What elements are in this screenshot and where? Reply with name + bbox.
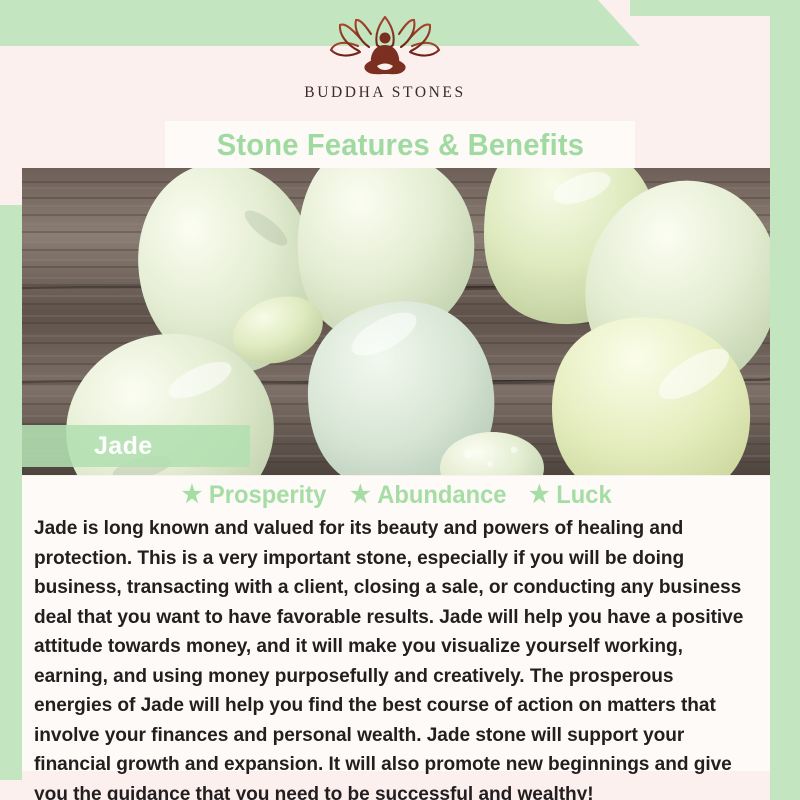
stone-description: Jade is long known and valued for its be… xyxy=(34,514,749,800)
brand-name: BUDDHA STONES xyxy=(0,84,770,102)
star-icon: ★ xyxy=(350,483,370,507)
content-area: ★ Prosperity ★ Abundance ★ Luck Jade is … xyxy=(22,476,770,771)
brand-logo: BUDDHA STONES xyxy=(0,14,770,102)
keyword-label: Luck xyxy=(556,481,611,510)
lotus-meditation-icon xyxy=(325,14,445,80)
page-title: Stone Features & Benefits xyxy=(216,127,583,163)
decorative-left-band xyxy=(0,205,22,780)
keyword-label: Abundance xyxy=(378,481,507,510)
keyword-item-prosperity: ★ Prosperity xyxy=(182,481,327,510)
star-icon: ★ xyxy=(182,483,202,507)
decorative-right-band xyxy=(770,0,800,800)
stone-name-strip: Jade xyxy=(22,425,250,467)
title-banner: Stone Features & Benefits xyxy=(165,121,635,168)
star-icon: ★ xyxy=(529,483,549,507)
stone-name: Jade xyxy=(94,432,153,461)
keyword-item-luck: ★ Luck xyxy=(529,481,612,510)
keyword-label: Prosperity xyxy=(209,481,326,510)
keyword-item-abundance: ★ Abundance xyxy=(350,481,506,510)
stone-benefits-poster: BUDDHA STONES Stone Features & Benefits xyxy=(0,0,800,800)
keyword-list: ★ Prosperity ★ Abundance ★ Luck xyxy=(22,478,770,512)
